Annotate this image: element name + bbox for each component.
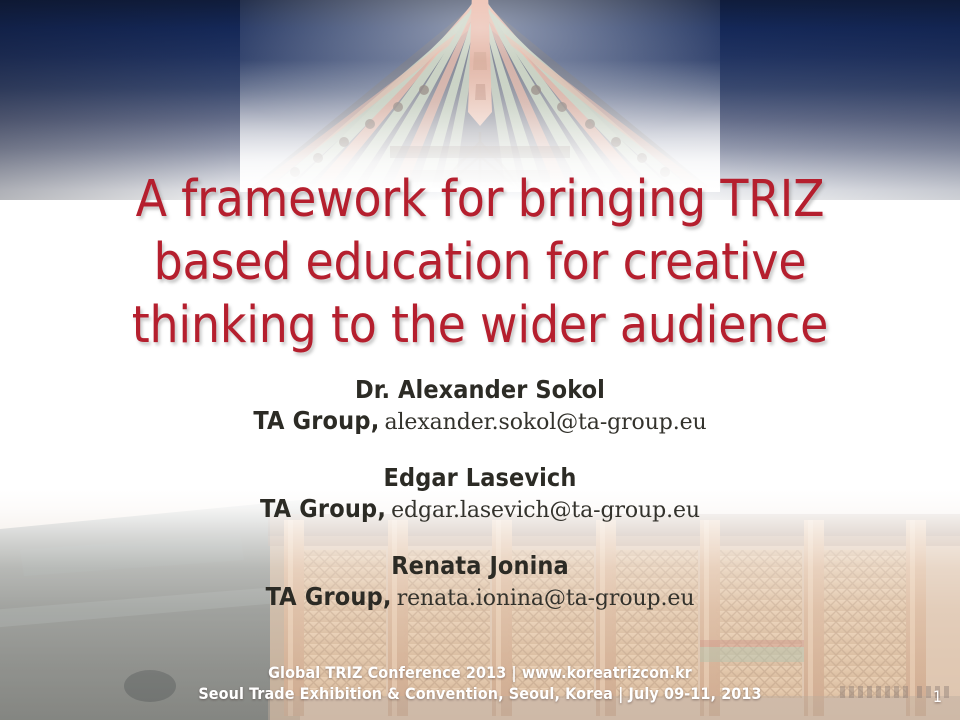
title-line-1: A framework for bringing TRIZ	[0, 168, 960, 231]
author-name: Renata Jonina	[0, 550, 960, 581]
author-block-3: Renata Jonina TA Group,renata.ionina@ta-…	[0, 550, 960, 621]
author-organization: TA Group,	[253, 406, 379, 435]
author-email[interactable]: alexander.sokol@ta-group.eu	[379, 410, 706, 435]
author-affiliation: TA Group,alexander.sokol@ta-group.eu	[0, 405, 960, 445]
author-name: Dr. Alexander Sokol	[0, 374, 960, 405]
author-affiliation: TA Group,edgar.lasevich@ta-group.eu	[0, 493, 960, 533]
author-affiliation: TA Group,renata.ionina@ta-group.eu	[0, 581, 960, 621]
author-organization: TA Group,	[266, 582, 392, 611]
palace-roof-image	[240, 0, 720, 192]
slide-title: A framework for bringing TRIZ based educ…	[0, 168, 960, 357]
title-line-3: thinking to the wider audience	[0, 294, 960, 357]
author-email[interactable]: edgar.lasevich@ta-group.eu	[386, 498, 700, 523]
author-block-1: Dr. Alexander Sokol TA Group,alexander.s…	[0, 374, 960, 445]
page-number: 1	[933, 687, 942, 706]
title-slide: A framework for bringing TRIZ based educ…	[0, 0, 960, 720]
author-name: Edgar Lasevich	[0, 462, 960, 493]
title-line-2: based education for creative	[0, 231, 960, 294]
author-block-2: Edgar Lasevich TA Group,edgar.lasevich@t…	[0, 462, 960, 533]
author-organization: TA Group,	[260, 494, 386, 523]
author-email[interactable]: renata.ionina@ta-group.eu	[392, 586, 695, 611]
author-list: Dr. Alexander Sokol TA Group,alexander.s…	[0, 374, 960, 621]
